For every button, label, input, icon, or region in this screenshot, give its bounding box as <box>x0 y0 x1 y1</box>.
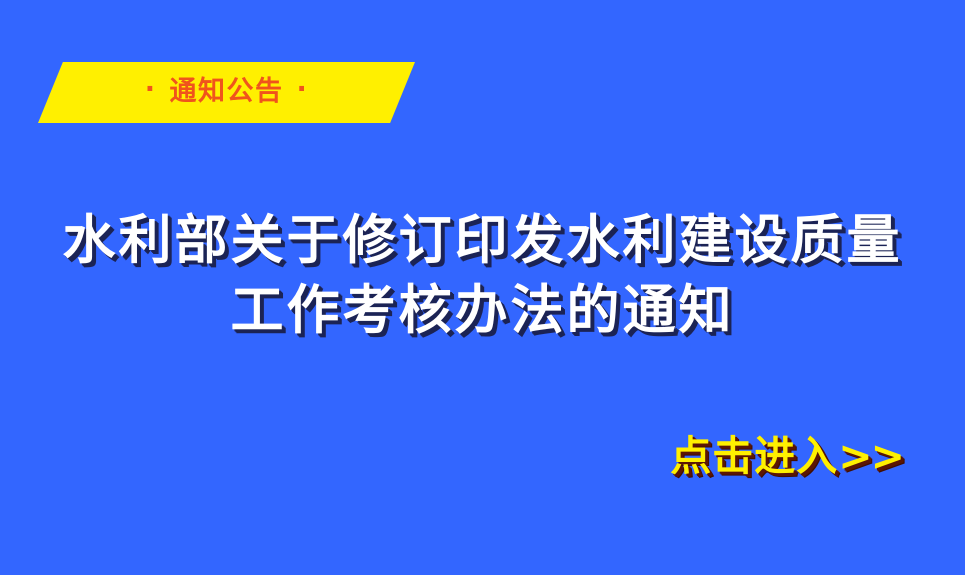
click-to-enter-link[interactable]: 点击进入>> <box>670 430 903 482</box>
double-chevron-right-icon: >> <box>838 432 903 480</box>
section-tag-banner: · 通知公告 · <box>38 62 415 123</box>
click-to-enter-label: 点击进入 <box>670 432 838 480</box>
banner-label-group: · 通知公告 · <box>38 62 415 123</box>
banner-left-dot-icon: · <box>145 76 157 103</box>
page-title: 水利部关于修订印发水利建设质量 工作考核办法的通知 <box>0 205 965 345</box>
banner-right-dot-icon: · <box>297 76 309 103</box>
page-title-line-2: 工作考核办法的通知 <box>0 275 965 345</box>
banner-label: 通知公告 <box>170 78 284 105</box>
cta-container: 点击进入>> <box>0 430 903 482</box>
notice-announcement-slide: · 通知公告 · 水利部关于修订印发水利建设质量 工作考核办法的通知 点击进入>… <box>0 0 965 575</box>
page-title-line-1: 水利部关于修订印发水利建设质量 <box>0 205 965 275</box>
